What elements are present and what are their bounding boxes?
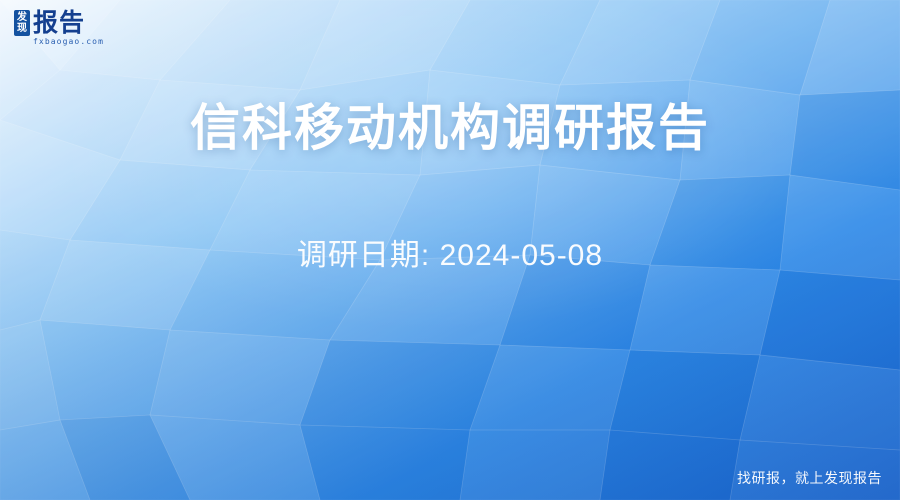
logo-text: 报告 fxbaogao.com (33, 10, 104, 47)
footer-slogan: 找研报，就上发现报告 (737, 468, 882, 488)
page-title: 信科移动机构调研报告 (0, 88, 900, 160)
logo-mark-line1: 发 (17, 12, 27, 23)
logo-mark-line2: 现 (17, 23, 27, 34)
logo-domain: fxbaogao.com (33, 37, 104, 47)
logo-mark: 发 现 (14, 10, 30, 36)
logo-wordmark: 报告 (33, 10, 104, 36)
survey-date: 调研日期: 2024-05-08 (0, 230, 900, 274)
site-logo[interactable]: 发 现 报告 fxbaogao.com (14, 10, 104, 47)
report-cover-slide: 发 现 报告 fxbaogao.com 信科移动机构调研报告 调研日期: 202… (0, 0, 900, 500)
